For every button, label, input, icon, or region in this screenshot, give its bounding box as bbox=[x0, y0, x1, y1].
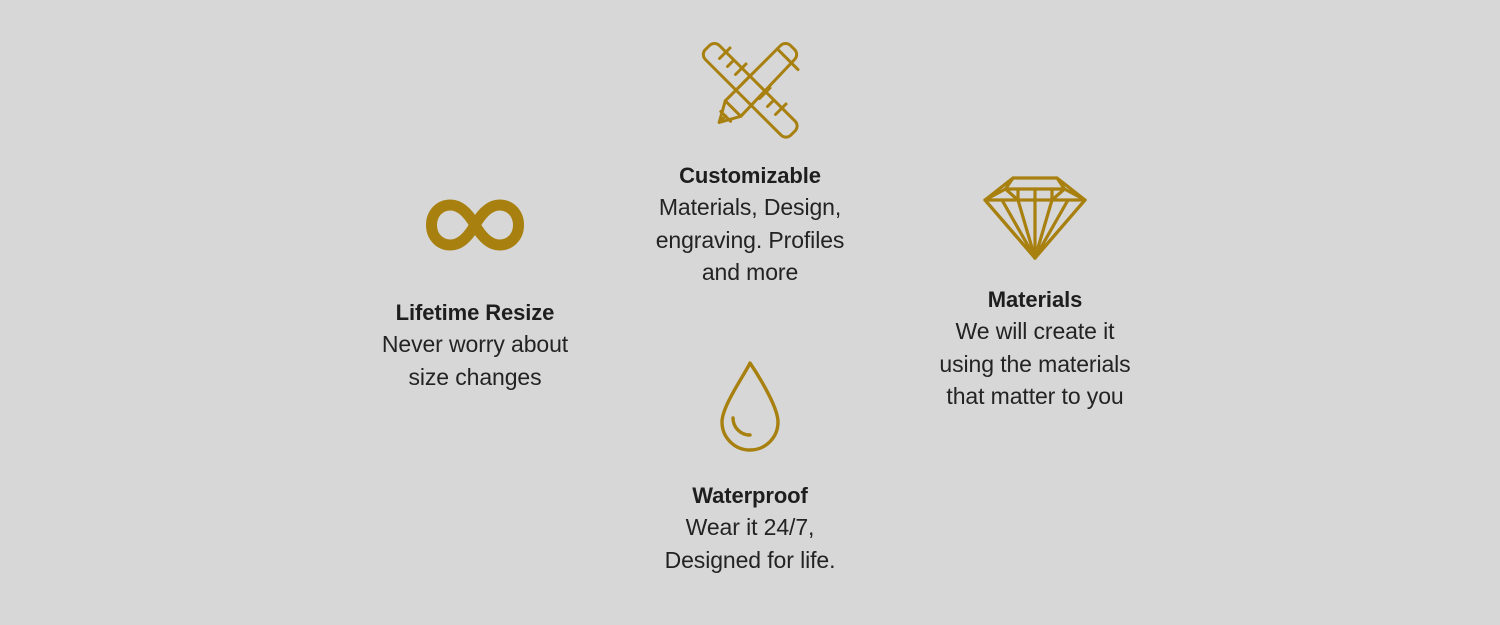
feature-description: Materials, Design, engraving. Profiles a… bbox=[656, 191, 845, 289]
feature-description-line: Designed for life. bbox=[665, 544, 836, 577]
feature-description-line: that matter to you bbox=[939, 380, 1130, 413]
feature-materials: Materials We will create it using the ma… bbox=[900, 170, 1170, 413]
feature-description-line: We will create it bbox=[939, 315, 1130, 348]
feature-description-line: size changes bbox=[382, 361, 568, 394]
feature-customizable: Customizable Materials, Design, engravin… bbox=[625, 32, 875, 289]
feature-lifetime-resize: Lifetime Resize Never worry about size c… bbox=[345, 196, 605, 393]
feature-title: Materials bbox=[988, 285, 1082, 315]
feature-description-line: Wear it 24/7, bbox=[665, 511, 836, 544]
feature-title: Customizable bbox=[679, 161, 821, 191]
water-drop-icon bbox=[715, 358, 785, 462]
feature-description: Wear it 24/7, Designed for life. bbox=[665, 511, 836, 576]
feature-description: Never worry about size changes bbox=[382, 328, 568, 393]
diamond-icon bbox=[980, 170, 1090, 264]
feature-waterproof: Waterproof Wear it 24/7, Designed for li… bbox=[630, 358, 870, 576]
feature-description-line: using the materials bbox=[939, 348, 1130, 381]
feature-title: Lifetime Resize bbox=[396, 298, 555, 328]
feature-highlights-section: Lifetime Resize Never worry about size c… bbox=[0, 0, 1500, 625]
feature-description: We will create it using the materials th… bbox=[939, 315, 1130, 413]
feature-description-line: and more bbox=[656, 256, 845, 289]
feature-description-line: engraving. Profiles bbox=[656, 224, 845, 257]
infinity-icon bbox=[425, 196, 525, 254]
feature-description-line: Never worry about bbox=[382, 328, 568, 361]
feature-title: Waterproof bbox=[692, 481, 808, 511]
ruler-pencil-icon bbox=[692, 32, 808, 142]
feature-description-line: Materials, Design, bbox=[656, 191, 845, 224]
